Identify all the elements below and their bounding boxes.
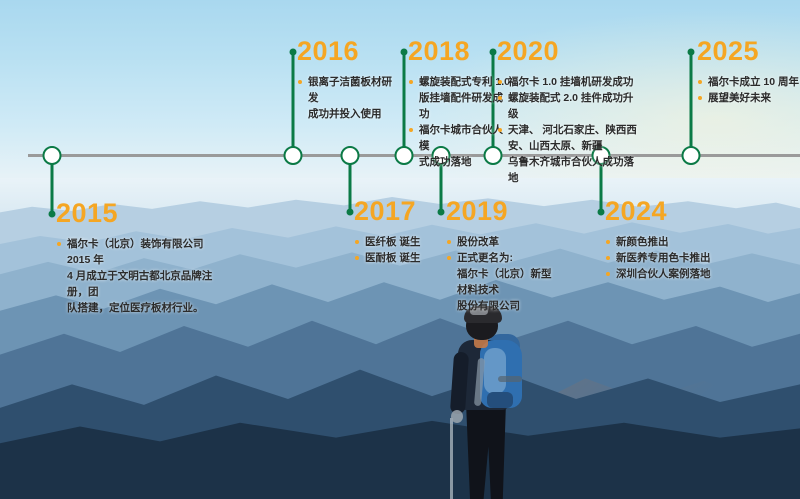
event-bullet: 股份改革 <box>446 234 556 250</box>
timeline-event-2015[interactable]: 2015福尔卡（北京）装饰有限公司 2015 年4 月成立于文明古都北京品牌注册… <box>56 200 216 316</box>
timeline-stem-dot-2024 <box>598 209 605 216</box>
timeline-stem-2015 <box>51 164 54 214</box>
event-bullet: 深圳合伙人案例落地 <box>605 266 735 282</box>
event-bullet: 螺旋装配式 2.0 挂件成功升级 <box>497 90 642 122</box>
event-bullet: 福尔卡成立 10 周年 <box>697 74 800 90</box>
timeline-node-2025[interactable] <box>682 146 701 165</box>
timeline-stem-2017 <box>349 164 352 212</box>
timeline-stem-dot-2017 <box>347 209 354 216</box>
event-bullet: 福尔卡（北京）新型材料技术 <box>446 266 556 298</box>
event-year-2019: 2019 <box>446 198 556 225</box>
event-bullet: 成功并投入使用 <box>297 106 402 122</box>
timeline-event-2020[interactable]: 2020福尔卡 1.0 挂墙机研发成功螺旋装配式 2.0 挂件成功升级天津、 河… <box>497 38 642 186</box>
event-bullets-2024: 新颜色推出新医养专用色卡推出深圳合伙人案例落地 <box>605 234 735 282</box>
event-bullet: 乌鲁木齐城市合伙人成功落地 <box>497 154 642 186</box>
timeline-node-2016[interactable] <box>284 146 303 165</box>
event-year-2016: 2016 <box>297 38 402 65</box>
event-bullets-2017: 医纤板 诞生医耐板 诞生 <box>354 234 449 266</box>
timeline: 2015福尔卡（北京）装饰有限公司 2015 年4 月成立于文明古都北京品牌注册… <box>0 0 800 499</box>
event-bullets-2015: 福尔卡（北京）装饰有限公司 2015 年4 月成立于文明古都北京品牌注册，团队搭… <box>56 236 216 316</box>
event-bullets-2016: 银离子洁菌板材研发成功并投入使用 <box>297 74 402 122</box>
timeline-stem-dot-2025 <box>688 49 695 56</box>
event-bullet: 新颜色推出 <box>605 234 735 250</box>
event-year-2017: 2017 <box>354 198 449 225</box>
event-year-2015: 2015 <box>56 200 216 227</box>
timeline-stem-2025 <box>690 52 693 147</box>
timeline-node-2015[interactable] <box>43 146 62 165</box>
timeline-event-2017[interactable]: 2017医纤板 诞生医耐板 诞生 <box>354 198 449 266</box>
timeline-stem-dot-2016 <box>290 49 297 56</box>
event-bullets-2020: 福尔卡 1.0 挂墙机研发成功螺旋装配式 2.0 挂件成功升级天津、 河北石家庄… <box>497 74 642 186</box>
event-bullet: 福尔卡 1.0 挂墙机研发成功 <box>497 74 642 90</box>
event-bullets-2019: 股份改革正式更名为:福尔卡（北京）新型材料技术股份有限公司 <box>446 234 556 314</box>
event-bullet: 展望美好未来 <box>697 90 800 106</box>
event-bullet: 4 月成立于文明古都北京品牌注册，团 <box>56 268 216 300</box>
event-bullet: 福尔卡（北京）装饰有限公司 2015 年 <box>56 236 216 268</box>
event-year-2020: 2020 <box>497 38 642 65</box>
event-bullet: 医耐板 诞生 <box>354 250 449 266</box>
event-bullet: 股份有限公司 <box>446 298 556 314</box>
timeline-event-2019[interactable]: 2019股份改革正式更名为:福尔卡（北京）新型材料技术股份有限公司 <box>446 198 556 314</box>
event-bullet: 医纤板 诞生 <box>354 234 449 250</box>
timeline-stem-dot-2015 <box>49 211 56 218</box>
event-bullet: 新医养专用色卡推出 <box>605 250 735 266</box>
event-bullet: 正式更名为: <box>446 250 556 266</box>
event-year-2025: 2025 <box>697 38 800 65</box>
timeline-event-2025[interactable]: 2025福尔卡成立 10 周年展望美好未来 <box>697 38 800 106</box>
timeline-node-2017[interactable] <box>341 146 360 165</box>
event-bullets-2025: 福尔卡成立 10 周年展望美好未来 <box>697 74 800 106</box>
event-bullet: 队搭建，定位医疗板材行业。 <box>56 300 216 316</box>
event-bullet: 银离子洁菌板材研发 <box>297 74 402 106</box>
timeline-stem-2016 <box>292 52 295 147</box>
timeline-event-2024[interactable]: 2024新颜色推出新医养专用色卡推出深圳合伙人案例落地 <box>605 198 735 282</box>
event-bullet: 天津、 河北石家庄、陕西西安、山西太原、新疆 <box>497 122 642 154</box>
event-year-2024: 2024 <box>605 198 735 225</box>
timeline-event-2016[interactable]: 2016银离子洁菌板材研发成功并投入使用 <box>297 38 402 122</box>
timeline-stem-2018 <box>403 52 406 147</box>
